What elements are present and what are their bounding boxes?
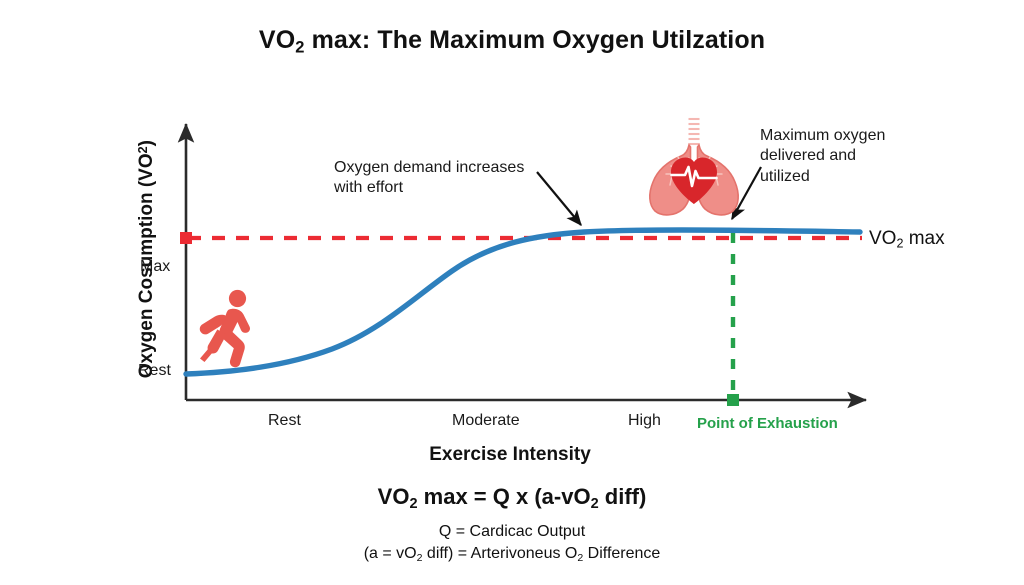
annotation-maximum-oxygen-line-2: delivered and (760, 146, 930, 166)
formula-main-a: VO (378, 484, 410, 509)
running-person-icon (196, 288, 264, 368)
formula-main-c: diff) (599, 484, 647, 509)
x-tick-label-rest: Rest (268, 412, 301, 430)
annotation-maximum-oxygen-line-1: Maximum oxygen (760, 126, 930, 146)
annotation-maximum-oxygen: Maximum oxygen delivered and utilized (760, 126, 930, 187)
chart-title-rest: max: The Maximum Oxygen Utilzation (305, 26, 766, 54)
vo2-max-line-start-marker (180, 232, 192, 244)
formula-avo2-a: (a = vO (364, 545, 417, 562)
annotation-oxygen-demand-line-2: with effort (334, 178, 564, 198)
vo2-max-label-suffix: max (903, 228, 944, 249)
y-axis-label-superscript: 2 (136, 146, 150, 153)
vo2-max-chart-figure: VO2 max: The Maximum Oxygen Utilzation (0, 0, 1024, 585)
x-axis-label: Exercise Intensity (300, 444, 720, 466)
lungs-heart-icon (645, 116, 743, 220)
x-tick-label-moderate: Moderate (452, 412, 520, 430)
formula-main-b-sub: 2 (591, 496, 599, 512)
y-tick-label-rest: Rest (138, 362, 171, 380)
formula-avo2-b: diff) = Arterivoneus O (422, 545, 577, 562)
formula-avo2-difference: (a = vO2 diff) = Arterivoneus O2 Differe… (0, 545, 1024, 564)
x-tick-label-high: High (628, 412, 661, 430)
vo2-max-label-prefix: VO (869, 228, 896, 249)
maximum-oxygen-arrow (732, 167, 761, 219)
vo2-max-line-label: VO2 max (869, 228, 945, 251)
y-axis-label-suffix: ) (136, 140, 157, 146)
annotation-oxygen-demand-line-1: Oxygen demand increases (334, 158, 564, 178)
right-lung (698, 145, 739, 215)
formula-cardiac-output: Q = Cardicac Output (0, 523, 1024, 541)
formula-main-b: max = Q x (a-vO (418, 484, 591, 509)
formula-avo2-c: Difference (583, 545, 660, 562)
bronchi (666, 157, 722, 185)
left-lung (650, 145, 691, 215)
oxygen-consumption-curve (186, 230, 860, 374)
point-of-exhaustion-label: Point of Exhaustion (697, 415, 838, 432)
annotation-oxygen-demand: Oxygen demand increases with effort (334, 158, 564, 199)
point-of-exhaustion-marker (727, 394, 739, 406)
chart-title-prefix: VO (259, 26, 295, 54)
ecg-line (672, 167, 717, 186)
heart (671, 158, 717, 205)
chart-title: VO2 max: The Maximum Oxygen Utilzation (0, 26, 1024, 58)
trachea (689, 119, 700, 144)
chart-title-subscript: 2 (295, 39, 304, 57)
formula-main: VO2 max = Q x (a-vO2 diff) (0, 484, 1024, 512)
y-tick-label-max: Max (140, 258, 170, 276)
annotation-maximum-oxygen-line-3: utilized (760, 167, 930, 187)
formula-main-a-sub: 2 (409, 496, 417, 512)
